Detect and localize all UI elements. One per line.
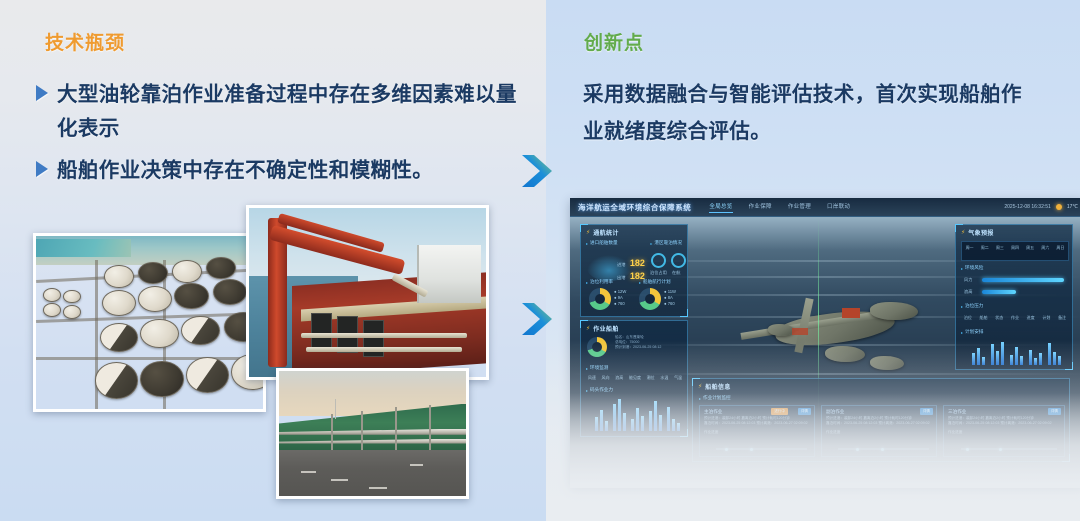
bar-label-wind: 风力 <box>964 277 972 283</box>
bar-label-wave: 浪高 <box>964 289 972 295</box>
section-label-berthing: 港区靠泊情况 <box>650 240 682 246</box>
panel-title: 通航统计 <box>593 228 619 237</box>
day-thu: 周四 <box>1011 245 1019 251</box>
section-label-env-risk: 环境风险 <box>961 265 983 271</box>
day-sat: 周六 <box>1041 245 1049 251</box>
list-item: 大型油轮靠泊作业准备过程中存在多维因素难以量化表示 <box>36 78 526 146</box>
tab-operation-management[interactable]: 作业管理 <box>788 202 811 213</box>
day-sun: 周日 <box>1056 245 1064 251</box>
wind-level-bar <box>982 278 1064 282</box>
section-label-plan-schedule: 计划安排 <box>961 329 983 335</box>
col-remark: 备注 <box>1058 315 1066 321</box>
col-progress: 进度 <box>1027 315 1035 321</box>
utilization-donut <box>589 288 611 310</box>
tab-global-overview[interactable]: 全局总览 <box>709 202 732 213</box>
gauge-label-transit: 在航 <box>672 270 680 276</box>
chevron-arrow-bottom <box>516 296 562 342</box>
col-berth: 泊位 <box>964 315 972 321</box>
status-temperature: 17℃ <box>1067 204 1078 210</box>
tab-port-coordination[interactable]: 口岸联动 <box>827 202 850 213</box>
sun-icon <box>1056 204 1062 210</box>
col-vessel: 船舶 <box>980 315 988 321</box>
lightning-icon: ⚡ <box>586 326 590 332</box>
tanker-loading-arm-photo <box>246 205 489 380</box>
lightning-icon: ⚡ <box>961 230 965 236</box>
day-fri: 周五 <box>1026 245 1034 251</box>
triangle-right-icon <box>36 161 48 177</box>
left-panel-bullet-list: 大型油轮靠泊作业准备过程中存在多维因素难以量化表示 船舶作业决策中存在不确定性和… <box>36 78 526 196</box>
day-tue: 周二 <box>981 245 989 251</box>
chevron-right-icon <box>522 303 552 335</box>
sailing-plan-donut <box>639 288 661 310</box>
section-label-utilization: 泊位利用率 <box>586 279 613 285</box>
dashboard-title: 海洋航运全域环境综合保障系统 <box>578 202 691 213</box>
dashboard-status-area: 2025-12-08 16:32:51 17℃ <box>1004 204 1078 210</box>
status-datetime: 2025-12-08 16:32:51 <box>1004 204 1050 210</box>
panel-title: 作业船舶 <box>593 324 619 333</box>
dashboard-tab-bar: 全局总览 作业保障 作业管理 口岸联动 <box>709 202 850 213</box>
panel-header: ⚡ 气象预报 <box>956 225 1072 240</box>
transit-gauge <box>671 253 686 268</box>
panel-header: ⚡ 通航统计 <box>581 225 687 240</box>
list-item: 船舶作业决策中存在不确定性和模糊性。 <box>36 154 526 188</box>
col-work: 作业 <box>1011 315 1019 321</box>
oil-tank-farm-aerial-photo <box>33 233 266 412</box>
berth-gauge <box>651 253 666 268</box>
day-mon: 周一 <box>966 245 974 251</box>
lightning-icon: ⚡ <box>586 230 590 236</box>
panel-traffic-statistics: ⚡ 通航统计 进口船舶数量 港区靠泊情况 进港 182 出港 182 泊位占用 … <box>580 224 688 317</box>
forecast-day-strip[interactable]: 周一 周二 周三 周四 周五 周六 周日 <box>961 241 1069 261</box>
chevron-right-icon <box>522 155 552 187</box>
panel-title: 气象预报 <box>968 228 994 237</box>
right-panel-heading: 创新点 <box>584 28 644 55</box>
triangle-right-icon <box>36 85 48 101</box>
right-panel-bottom-fade <box>546 340 1080 521</box>
forecast-table-header: 泊位 船舶 状态 作业 进度 计划 备注 <box>960 315 1070 321</box>
col-plan: 计划 <box>1042 315 1050 321</box>
bullet-text: 船舶作业决策中存在不确定性和模糊性。 <box>57 154 433 188</box>
day-wed: 周三 <box>996 245 1004 251</box>
wave-level-bar <box>982 290 1016 294</box>
left-panel-heading: 技术瓶颈 <box>45 28 125 55</box>
bullet-text: 大型油轮靠泊作业准备过程中存在多维因素难以量化表示 <box>57 78 526 146</box>
tab-operation-support[interactable]: 作业保障 <box>749 202 772 213</box>
section-label-sailing-plan: 船舶航行计划 <box>639 279 671 285</box>
chevron-arrow-top <box>516 148 562 194</box>
pipeline-rack-roadside-photo <box>276 368 469 499</box>
section-label-inbound: 进口船舶数量 <box>586 240 618 246</box>
panel-header: ⚡ 作业船舶 <box>581 321 687 336</box>
col-status: 状态 <box>995 315 1003 321</box>
right-panel-paragraph: 采用数据融合与智能评估技术，首次实现船舶作业就绪度综合评估。 <box>583 76 1028 150</box>
gauge-label-berth: 泊位占用 <box>650 270 667 276</box>
dashboard-top-bar: 海洋航运全域环境综合保障系统 全局总览 作业保障 作业管理 口岸联动 2025-… <box>570 198 1080 217</box>
section-label-berth-pressure: 泊位压力 <box>961 303 983 309</box>
